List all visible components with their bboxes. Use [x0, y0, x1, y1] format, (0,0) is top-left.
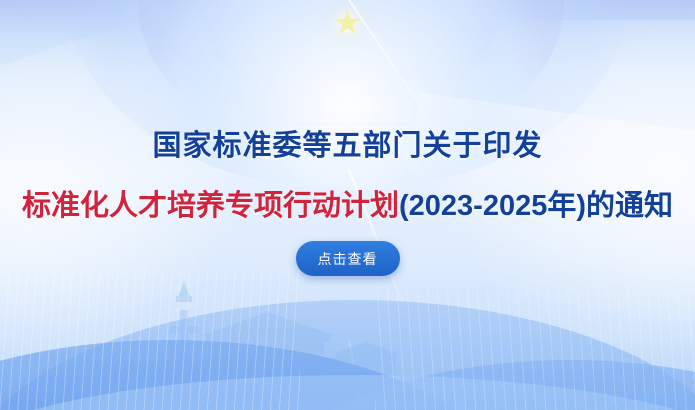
banner-content: 国家标准委等五部门关于印发 标准化人才培养专项行动计划(2023-2025年)的… — [0, 0, 695, 410]
banner-title-line2: 标准化人才培养专项行动计划(2023-2025年)的通知 — [0, 182, 695, 224]
banner-title-plan-suffix: (2023-2025年)的通知 — [399, 190, 673, 222]
announcement-banner: ★ — [0, 0, 695, 410]
view-details-button[interactable]: 点击查看 — [296, 241, 400, 276]
banner-title-line1: 国家标准委等五部门关于印发 — [0, 122, 695, 164]
banner-title-plan-name: 标准化人才培养专项行动计划 — [22, 190, 399, 222]
